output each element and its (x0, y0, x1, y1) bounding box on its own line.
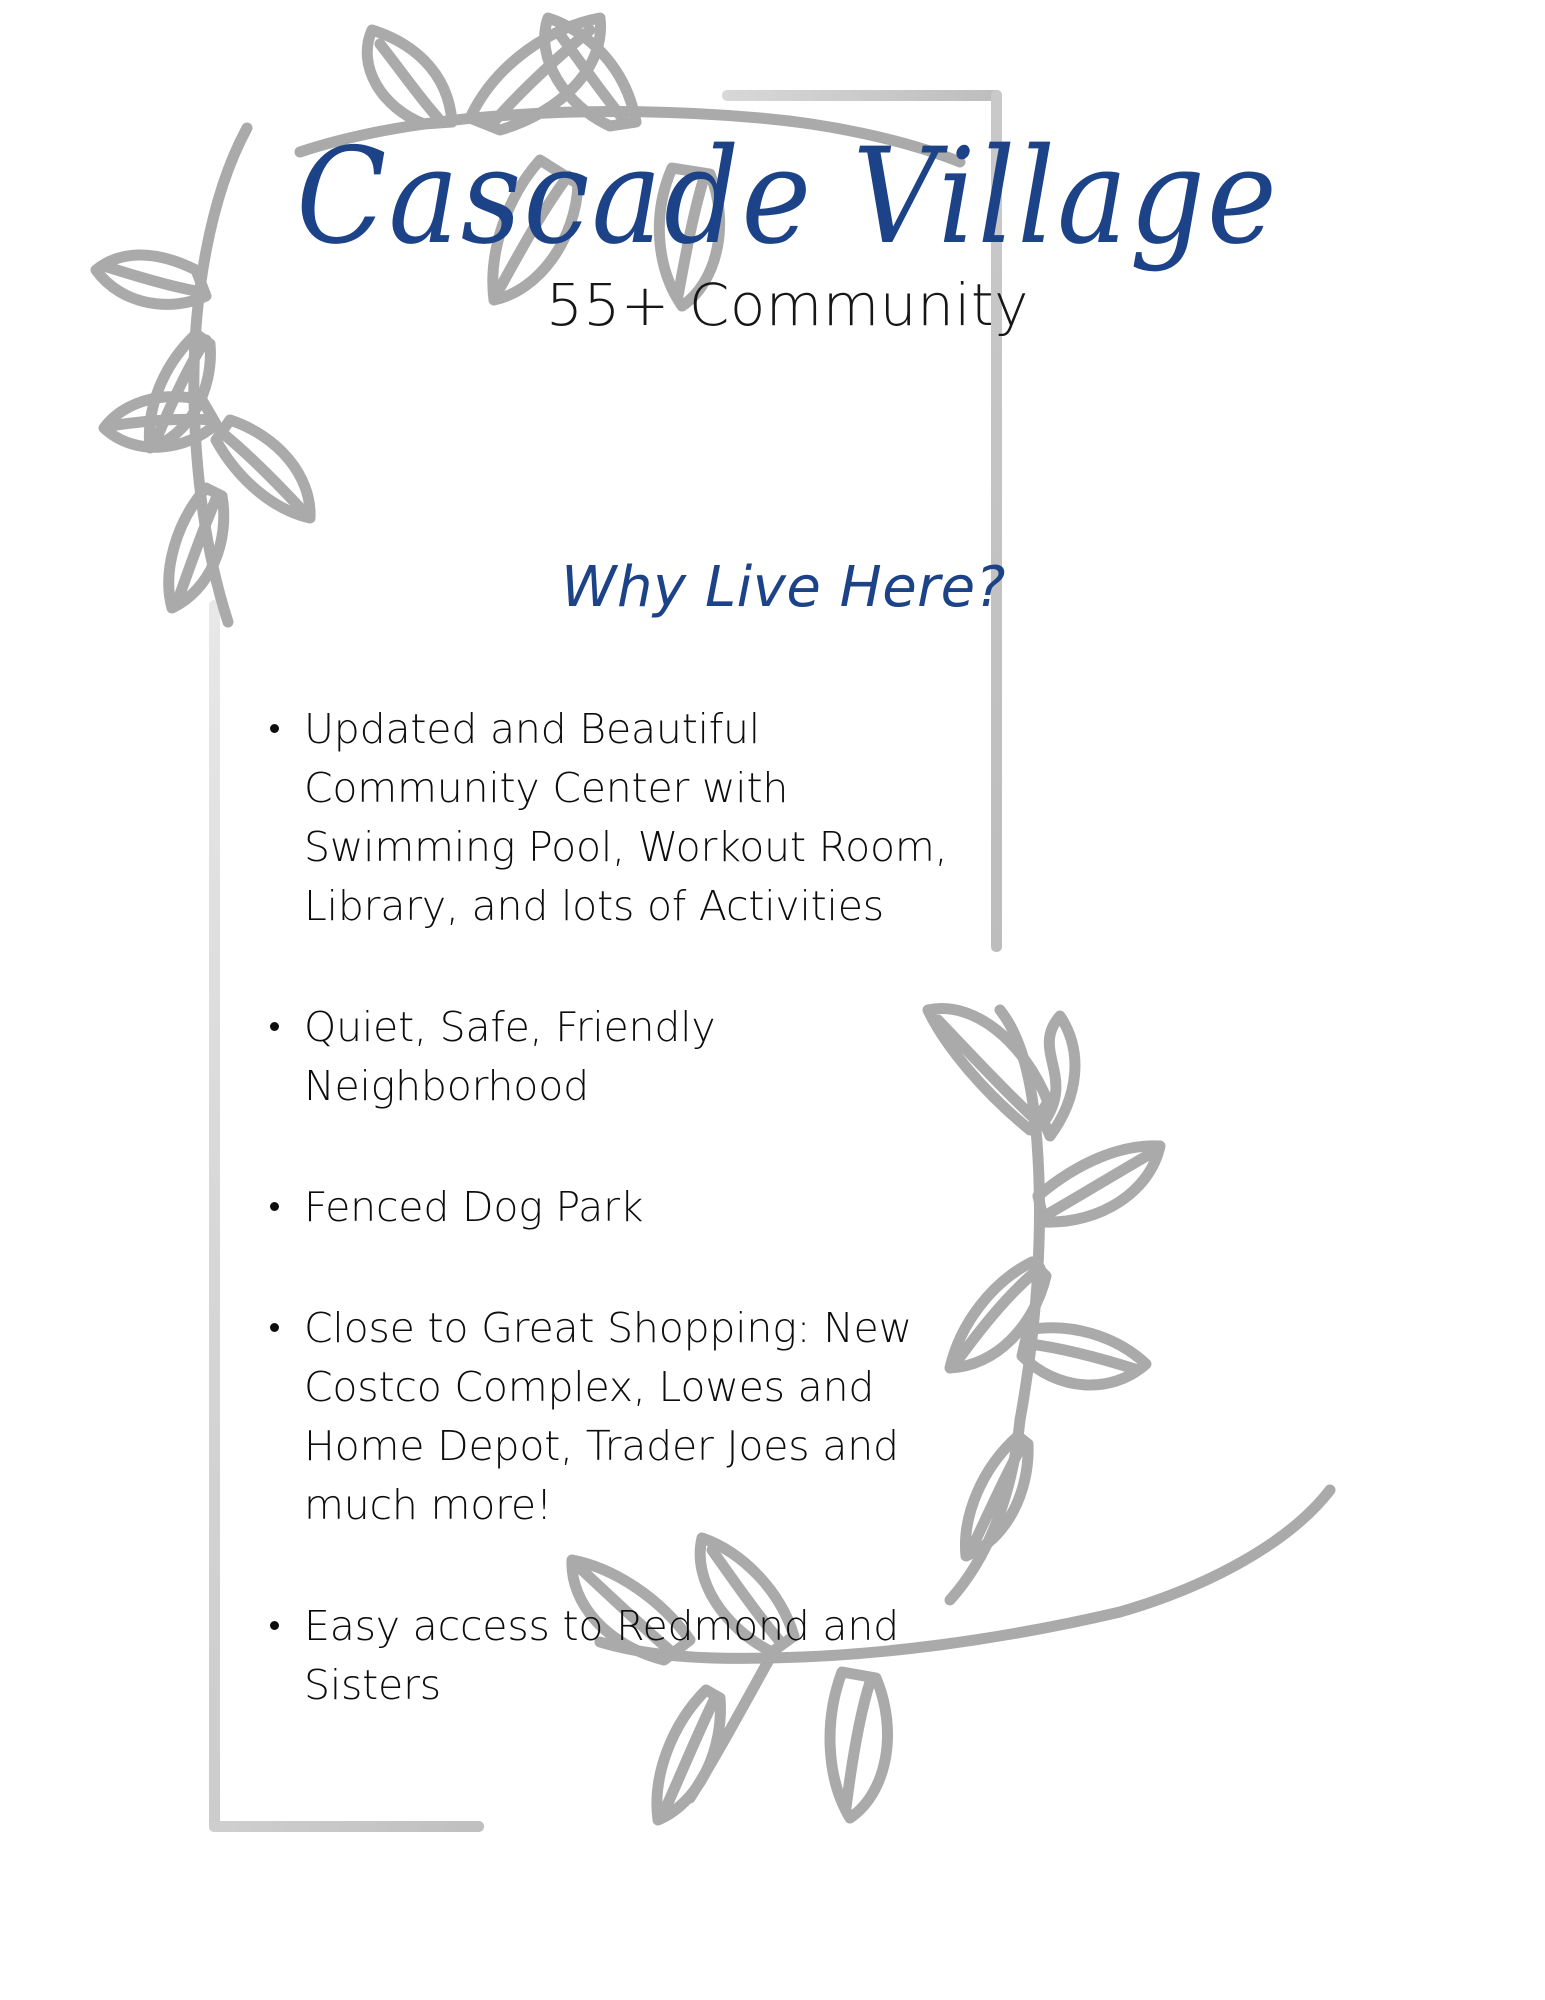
benefits-list: Updated and Beautiful Community Center w… (262, 700, 982, 1715)
list-item-label: Fenced Dog Park (304, 1183, 643, 1231)
list-item: Easy access to Redmond and Sisters (262, 1597, 982, 1715)
bullet-dot-icon (270, 1323, 279, 1332)
bullet-dot-icon (270, 1621, 279, 1630)
list-item-label: Updated and Beautiful Community Center w… (304, 705, 947, 930)
page-title: Cascade Village (0, 130, 1545, 262)
list-item: Close to Great Shopping: New Costco Comp… (262, 1299, 982, 1535)
flyer-header: Cascade Village 55+ Community (0, 130, 1545, 334)
list-item-label: Easy access to Redmond and Sisters (304, 1602, 899, 1709)
bullet-dot-icon (270, 1202, 279, 1211)
list-item-label: Close to Great Shopping: New Costco Comp… (304, 1304, 912, 1529)
bullet-dot-icon (270, 724, 279, 733)
list-item: Updated and Beautiful Community Center w… (262, 700, 982, 936)
list-item-label: Quiet, Safe, Friendly Neighborhood (304, 1003, 715, 1110)
section-heading: Why Live Here? (0, 555, 1545, 620)
page-subtitle: 55+ Community (0, 276, 1545, 334)
bullet-dot-icon (270, 1022, 279, 1031)
flyer-canvas: Cascade Village 55+ Community Why Live H… (0, 0, 1545, 2000)
list-item: Fenced Dog Park (262, 1178, 982, 1237)
list-item: Quiet, Safe, Friendly Neighborhood (262, 998, 982, 1116)
